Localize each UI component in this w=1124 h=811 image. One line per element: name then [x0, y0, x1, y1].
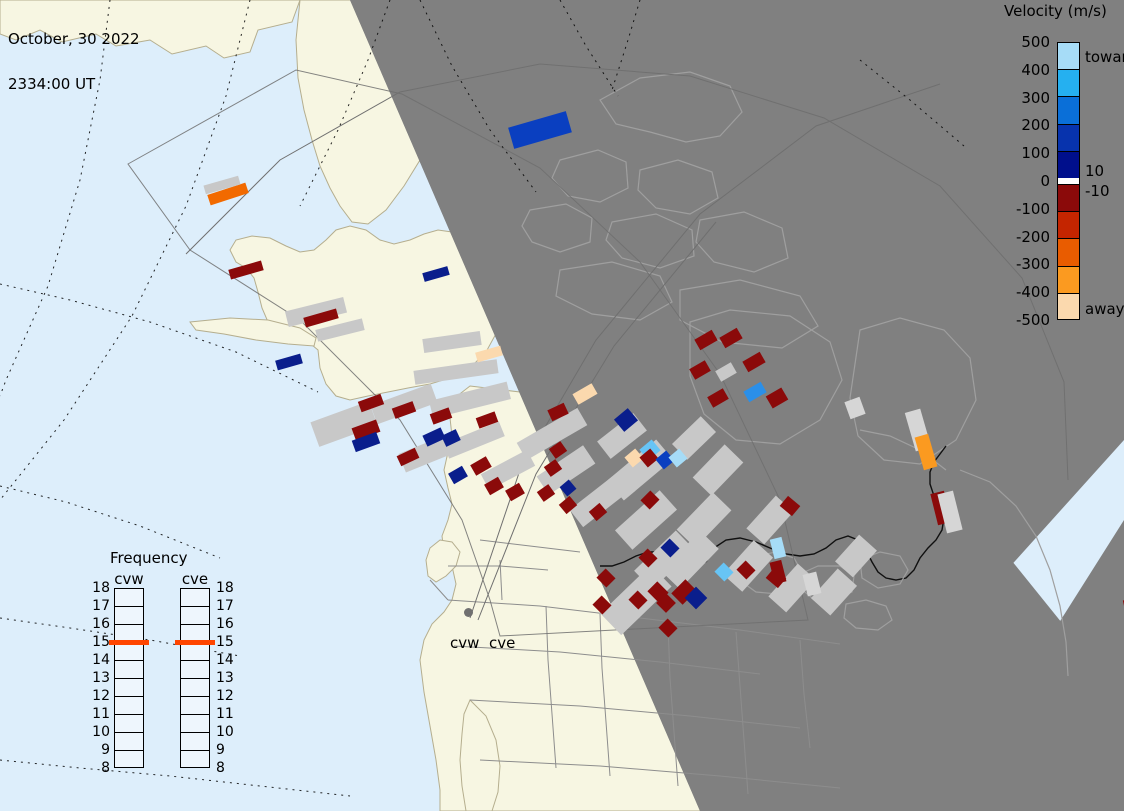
frequency-scale-label: 14: [216, 652, 238, 668]
frequency-cell[interactable]: [115, 715, 143, 733]
frequency-scale-label: 9: [88, 742, 110, 758]
radar-site-marker-dot[interactable]: [464, 608, 473, 617]
colorbar-tick-label: 300: [1000, 89, 1050, 107]
frequency-scale-label: 8: [88, 760, 110, 776]
frequency-scale-label: 15: [88, 634, 110, 650]
frequency-scale-label: 18: [216, 580, 238, 596]
frequency-cell[interactable]: [115, 697, 143, 715]
colorbar-tick-label: 400: [1000, 61, 1050, 79]
frequency-column-label: cve: [172, 570, 218, 588]
frequency-scale-label: 11: [216, 706, 238, 722]
frequency-cell[interactable]: [115, 589, 143, 607]
frequency-scale-label: 8: [216, 760, 238, 776]
frequency-cell[interactable]: [115, 607, 143, 625]
colorbar-tick-label: -400: [1000, 283, 1050, 301]
frequency-scale-label: 17: [216, 598, 238, 614]
frequency-scale-label: 14: [88, 652, 110, 668]
frequency-cell[interactable]: [181, 661, 209, 679]
frequency-scale-label: 13: [216, 670, 238, 686]
frequency-column-label: cvw: [106, 570, 152, 588]
colorbar-tick-label: 100: [1000, 144, 1050, 162]
frequency-scale-label: 10: [216, 724, 238, 740]
frequency-bar[interactable]: [180, 588, 210, 768]
colorbar-pos-threshold-label: 10: [1085, 162, 1104, 180]
frequency-cell[interactable]: [115, 733, 143, 751]
frequency-marker: [109, 640, 149, 645]
frequency-cell[interactable]: [115, 679, 143, 697]
frequency-cell[interactable]: [181, 589, 209, 607]
frequency-scale-label: 9: [216, 742, 238, 758]
frequency-cell[interactable]: [181, 607, 209, 625]
frequency-scale-label: 12: [216, 688, 238, 704]
colorbar-away-label: away: [1085, 300, 1124, 318]
frequency-cell[interactable]: [181, 697, 209, 715]
frequency-bar[interactable]: [114, 588, 144, 768]
frequency-legend-title: Frequency: [110, 549, 188, 567]
frequency-scale-label: 12: [88, 688, 110, 704]
frequency-cell[interactable]: [181, 733, 209, 751]
colorbar-toward-label: toward: [1085, 48, 1124, 66]
colorbar-tick-label: -200: [1000, 228, 1050, 246]
colorbar-tick-label: 500: [1000, 33, 1050, 51]
frequency-scale-label: 16: [216, 616, 238, 632]
colorbar-tick-label: -100: [1000, 200, 1050, 218]
frequency-scale-label: 11: [88, 706, 110, 722]
frequency-cell[interactable]: [181, 643, 209, 661]
frequency-cell[interactable]: [181, 715, 209, 733]
frequency-cell[interactable]: [115, 751, 143, 769]
colorbar-tick-label: -500: [1000, 311, 1050, 329]
colorbar-tick-label: -300: [1000, 255, 1050, 273]
frequency-scale-label: 13: [88, 670, 110, 686]
radar-map-app: October, 30 2022 2334:00 UT Velocity (m/…: [0, 0, 1124, 811]
frequency-cell[interactable]: [115, 643, 143, 661]
frequency-scale-label: 10: [88, 724, 110, 740]
frequency-scale-label: 16: [88, 616, 110, 632]
colorbar-tick-label: 200: [1000, 116, 1050, 134]
frequency-cell[interactable]: [181, 751, 209, 769]
frequency-scale-label: 15: [216, 634, 238, 650]
frequency-cell[interactable]: [115, 661, 143, 679]
colorbar-tick-label: 0: [1000, 172, 1050, 190]
frequency-cell[interactable]: [181, 679, 209, 697]
frequency-scale-label: 17: [88, 598, 110, 614]
frequency-scale-label: 18: [88, 580, 110, 596]
radar-site-label[interactable]: cve: [489, 634, 515, 652]
frequency-marker: [175, 640, 215, 645]
colorbar-tick-layer: 5004003002001000-100-200-300-400-500: [0, 0, 1124, 811]
colorbar-neg-threshold-label: -10: [1085, 182, 1110, 200]
radar-site-label[interactable]: cvw: [450, 634, 479, 652]
